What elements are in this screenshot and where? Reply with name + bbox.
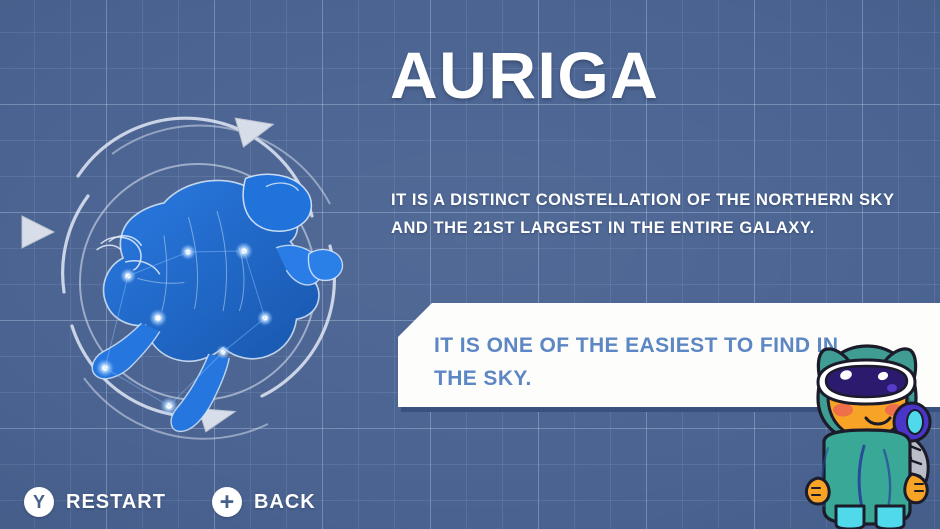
prompt-restart[interactable]: Y RESTART [24, 487, 166, 517]
prompt-back[interactable]: + BACK [212, 487, 316, 517]
charioteer-figure [92, 174, 342, 431]
prompt-label-back: BACK [254, 491, 316, 514]
plus-button-icon[interactable]: + [212, 487, 242, 517]
mascot-visor [818, 360, 915, 404]
marker-top-right [235, 111, 276, 148]
marker-left [22, 216, 54, 248]
game-screen: AURIGA IT IS A DISTINCT CONSTELLATION OF… [0, 0, 940, 529]
astronaut-cat-mascot [788, 338, 940, 529]
cheek-left [833, 404, 853, 417]
constellation-description: IT IS A DISTINCT CONSTELLATION OF THE NO… [391, 186, 911, 242]
y-button-icon[interactable]: Y [24, 487, 54, 517]
star [149, 309, 167, 327]
constellation-illustration [12, 96, 372, 466]
prompt-label-restart: RESTART [66, 491, 166, 514]
button-prompt-bar: Y RESTART + BACK [24, 487, 316, 517]
page-title: AURIGA [390, 42, 659, 108]
